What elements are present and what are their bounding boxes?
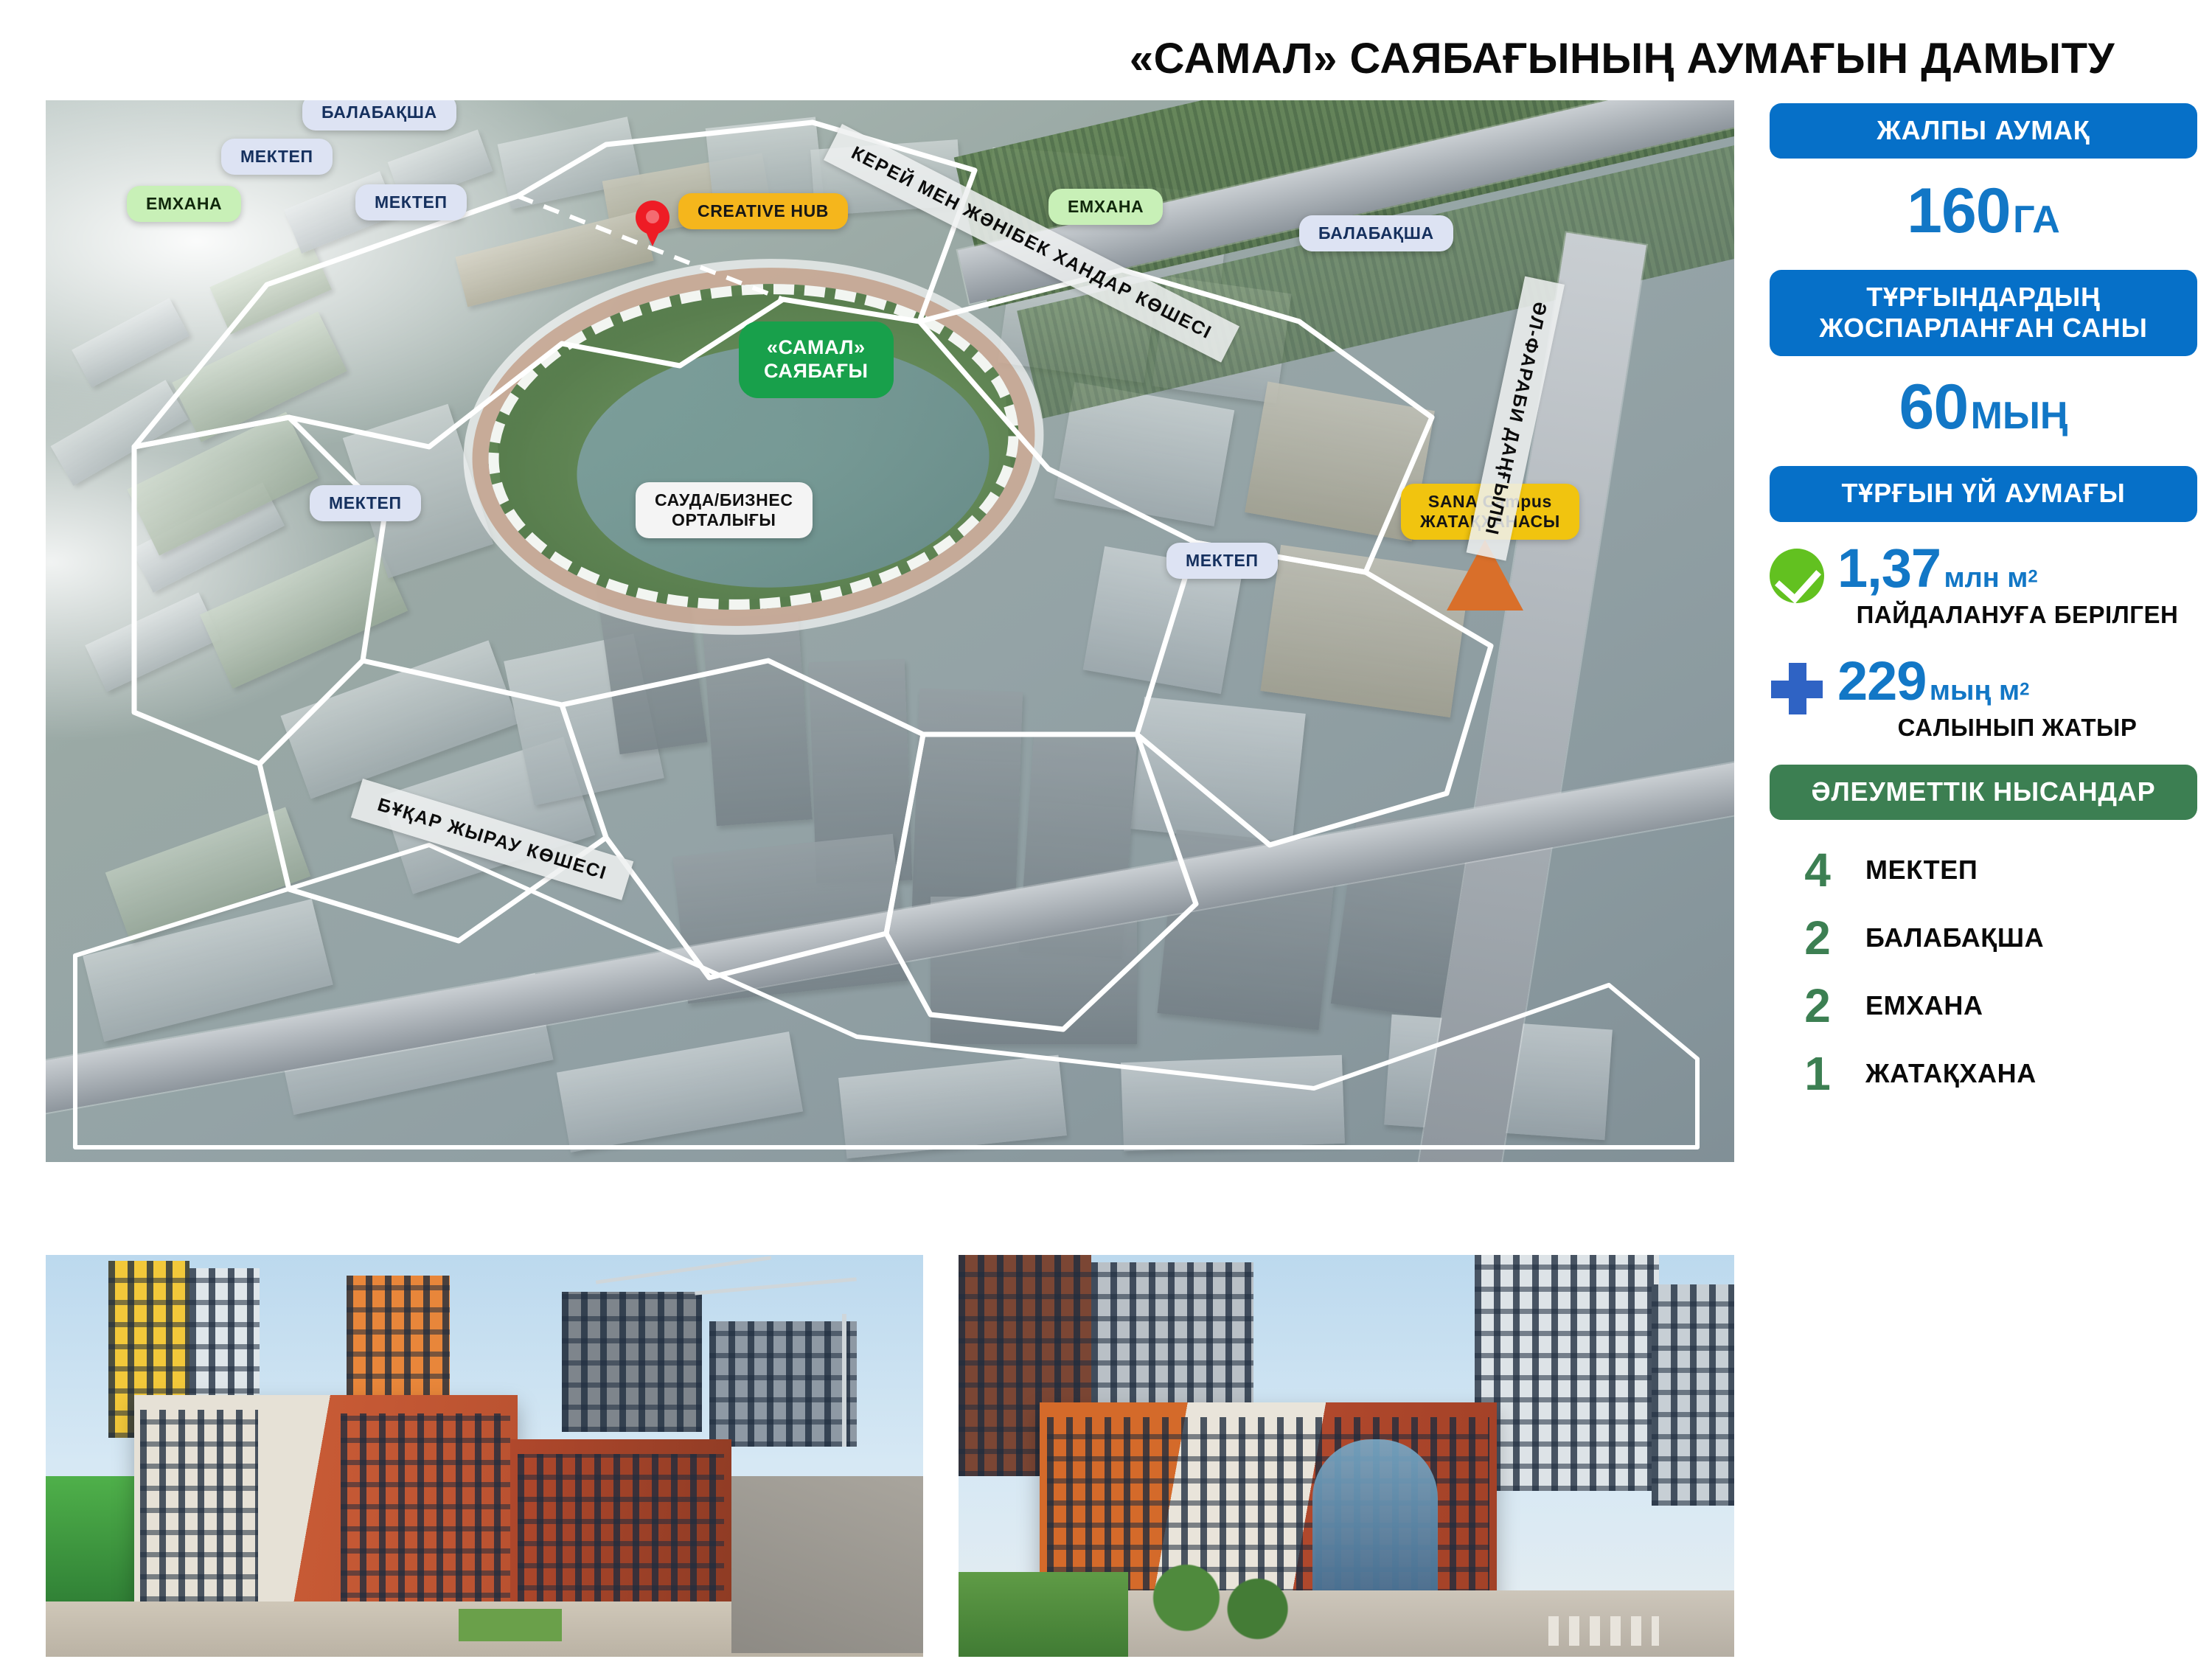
population-caption: ТҰРҒЫНДАРДЫҢ ЖОСПАРЛАНҒАН САНЫ (1770, 270, 2197, 356)
crane-icon-3 (842, 1314, 846, 1447)
check-circle-icon (1770, 549, 1824, 603)
kindergarten-trees (1135, 1543, 1305, 1653)
facility-count-kindergarten: 2 (1770, 914, 1865, 961)
facility-row-kindergarten: 2 БАЛАБАҚША (1770, 904, 2197, 972)
facility-label-kindergarten: БАЛАБАҚША (1865, 922, 2044, 953)
map-label-school-mid[interactable]: МЕКТЕП (1166, 543, 1278, 579)
commerce-line1: САУДА/БИЗНЕС (655, 490, 793, 510)
facility-row-school: 4 МЕКТЕП (1770, 836, 2197, 904)
housing-construction-sup: 2 (2020, 680, 2029, 700)
bg-construction-tower (562, 1292, 702, 1432)
social-facilities-caption: ӘЛЕУМЕТТІК НЫСАНДАР (1770, 765, 2197, 820)
kindergarten-crosswalk (1548, 1616, 1659, 1646)
kindergarten-glass-atrium (1312, 1439, 1438, 1605)
school-road (731, 1476, 923, 1653)
facility-label-clinic: ЕМХАНА (1865, 990, 1983, 1021)
facility-count-dormitory: 1 (1770, 1050, 1865, 1097)
housing-commissioned-value-line: 1,37 млн м2 (1837, 541, 2197, 596)
population-value-row: 60 МЫҢ (1770, 371, 2197, 444)
park-label-line1: «САМАЛ» (764, 336, 869, 360)
facility-label-school: МЕКТЕП (1865, 855, 1978, 886)
map-label-clinic-left[interactable]: ЕМХАНА (127, 186, 241, 222)
map-label-commerce-center[interactable]: САУДА/БИЗНЕС ОРТАЛЫҒЫ (636, 482, 813, 538)
school-wing-windows (518, 1454, 724, 1613)
school-building-windows-right (341, 1413, 510, 1620)
total-area-unit: ГА (2013, 198, 2060, 241)
housing-construction-value: 229 (1837, 650, 1926, 712)
facility-row-clinic: 2 ЕМХАНА (1770, 972, 2197, 1040)
school-lawn-patch (459, 1609, 562, 1641)
aerial-master-plan-map[interactable]: БАЛАБАҚША МЕКТЕП ЕМХАНА МЕКТЕП ЕМХАНА БА… (46, 100, 1734, 1162)
housing-caption: ТҰРҒЫН ҮЙ АУМАҒЫ (1770, 466, 2197, 521)
social-facilities-list: 4 МЕКТЕП 2 БАЛАБАҚША 2 ЕМХАНА 1 ЖАТАҚХАН… (1770, 836, 2197, 1107)
map-label-samal-park[interactable]: «САМАЛ» САЯБАҒЫ (739, 321, 894, 398)
kindergarten-lawn (959, 1572, 1128, 1657)
population-unit: МЫҢ (1971, 394, 2068, 437)
housing-commissioned-row: 1,37 млн м2 ПАЙДАЛАНУҒА БЕРІЛГЕН (1770, 541, 2197, 630)
map-label-school-left2[interactable]: МЕКТЕП (355, 184, 467, 220)
district-outlines (46, 100, 1734, 1162)
total-area-value-row: 160 ГА (1770, 175, 2197, 248)
population-value: 60 (1899, 372, 1969, 442)
park-label-line2: САЯБАҒЫ (764, 360, 869, 383)
stats-column: ЖАЛПЫ АУМАҚ 160 ГА ТҰРҒЫНДАРДЫҢ ЖОСПАРЛА… (1770, 103, 2197, 1107)
map-label-kindergarten-right[interactable]: БАЛАБАҚША (1299, 215, 1453, 251)
photo-schools[interactable]: МЕКТЕПТЕР (46, 1255, 923, 1657)
facility-count-school: 4 (1770, 846, 1865, 894)
total-area-value: 160 (1907, 175, 2011, 246)
map-label-creative-hub[interactable]: CREATIVE HUB (678, 193, 848, 229)
housing-construction-unit: мың м (1930, 675, 2020, 706)
map-label-school-top[interactable]: МЕКТЕП (221, 139, 333, 175)
housing-construction-value-line: 229 мың м2 (1837, 654, 2197, 709)
school-building-windows-left (140, 1410, 258, 1624)
housing-commissioned-value: 1,37 (1837, 538, 1941, 599)
page-title: «САМАЛ» САЯБАҒЫНЫҢ АУМАҒЫН ДАМЫТУ (1047, 34, 2197, 83)
housing-commissioned-unit: млн м (1944, 563, 2028, 594)
kg-bg-tower-white (1475, 1255, 1659, 1491)
facility-label-dormitory: ЖАТАҚХАНА (1865, 1058, 2037, 1089)
photo-kindergartens[interactable]: БАЛАБАҚШАЛАР (959, 1255, 1734, 1657)
map-label-clinic-right[interactable]: ЕМХАНА (1048, 189, 1163, 225)
commerce-line2: ОРТАЛЫҒЫ (655, 510, 793, 530)
map-label-school-midleft[interactable]: МЕКТЕП (310, 485, 421, 521)
total-area-caption: ЖАЛПЫ АУМАҚ (1770, 103, 2197, 159)
facility-count-clinic: 2 (1770, 982, 1865, 1029)
housing-construction-label: САЛЫНЫП ЖАТЫР (1837, 713, 2197, 742)
housing-commissioned-sup: 2 (2028, 566, 2037, 586)
facility-row-dormitory: 1 ЖАТАҚХАНА (1770, 1040, 2197, 1107)
map-label-kindergarten-top[interactable]: БАЛАБАҚША (302, 100, 456, 131)
housing-commissioned-label: ПАЙДАЛАНУҒА БЕРІЛГЕН (1837, 600, 2197, 630)
plus-icon (1770, 661, 1824, 716)
housing-under-construction-row: 229 мың м2 САЛЫНЫП ЖАТЫР (1770, 654, 2197, 742)
location-pin-icon[interactable] (636, 201, 669, 246)
bg-tower-right (709, 1321, 857, 1447)
kg-bg-tower-right (1652, 1284, 1734, 1506)
